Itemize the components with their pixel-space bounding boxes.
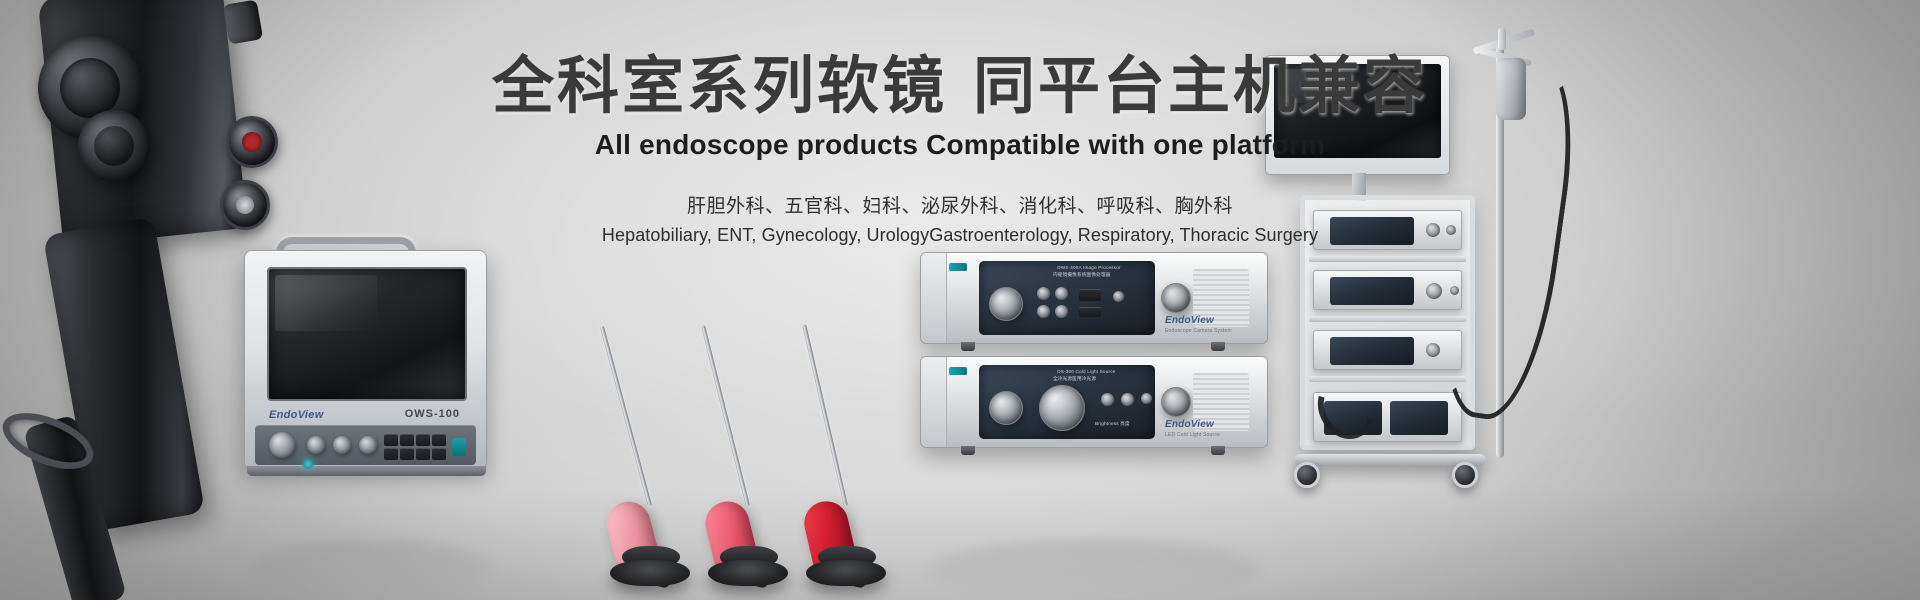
unit-power-indicator	[949, 263, 967, 271]
instrument-shaft	[802, 324, 848, 506]
panel-cn-text: 全冷光源医用冷光源	[1053, 376, 1096, 383]
workstation-knob-2	[307, 436, 325, 454]
cart-device-2-knob	[1426, 283, 1442, 299]
cart-device-3-panel	[1330, 337, 1414, 365]
cold-light-source-unit: OS-300 Cold Light Source 全冷光源医用冷光源 Brigh…	[920, 356, 1268, 448]
banner-text-block: 全科室系列软镜同平台主机兼容 All endoscope products Co…	[0, 52, 1920, 246]
processor-usb-port	[1079, 289, 1101, 301]
cart-device-2-panel	[1330, 277, 1414, 305]
workstation-main-knob	[269, 432, 295, 458]
processor-stack: OWS-400A Image Processor 内窥镜摄像系统图像处理器 En…	[920, 252, 1270, 462]
instrument-shaft	[600, 326, 652, 507]
processor-button-4	[1055, 305, 1068, 318]
processor-button-1	[1037, 287, 1050, 300]
light-source-knob-label: Brightness 亮度	[1095, 421, 1130, 428]
light-source-button-3	[1141, 393, 1152, 404]
pole-arm-3	[1498, 28, 1506, 50]
light-source-button-2	[1121, 393, 1134, 406]
processor-brand-label: EndoView	[1165, 315, 1214, 326]
unit-left-bezel	[921, 357, 947, 447]
rigid-endoscope-red	[788, 332, 908, 582]
panel-cn-text: 内窥镜摄像系统图像处理器	[1053, 272, 1111, 279]
light-source-button-1	[1101, 393, 1114, 406]
instrument-stand-base	[806, 560, 886, 586]
light-source-brightness-knob	[1039, 385, 1085, 431]
unit-foot-right	[1211, 342, 1225, 351]
unit-foot-left	[961, 446, 975, 455]
workstation-model-label: OWS-100	[405, 408, 460, 420]
workstation-knob-4	[359, 436, 377, 454]
light-source-brand-label: EndoView	[1165, 419, 1214, 430]
light-source-front-panel: OS-300 Cold Light Source 全冷光源医用冷光源 Brigh…	[979, 365, 1155, 439]
cart-shelf-1	[1309, 256, 1466, 262]
scope-side-housing	[223, 0, 263, 45]
instrument-shaft	[701, 325, 750, 506]
light-source-side-knob	[1161, 387, 1191, 417]
processor-front-panel: OWS-400A Image Processor 内窥镜摄像系统图像处理器	[979, 261, 1155, 335]
unit-power-indicator	[949, 367, 967, 375]
instrument-stand-base	[610, 560, 690, 586]
product-banner: EndoView OWS-100	[0, 0, 1920, 600]
cart-caster-left	[1294, 462, 1320, 488]
cart-device-2	[1313, 270, 1462, 310]
processor-main-knob	[989, 287, 1023, 321]
cart-device-3-knob	[1426, 343, 1440, 357]
workstation-knob-3	[333, 436, 351, 454]
workstation-power-button	[452, 438, 466, 456]
image-processor-unit: OWS-400A Image Processor 内窥镜摄像系统图像处理器 En…	[920, 252, 1268, 344]
workstation-display-screen	[267, 267, 467, 401]
headline: 全科室系列软镜同平台主机兼容	[0, 52, 1920, 121]
processor-indicator	[1113, 291, 1124, 302]
reflection-processors	[930, 540, 1260, 600]
workstation-status-lamp	[303, 459, 313, 469]
processor-sub-label: Endoscope Camera System	[1165, 328, 1232, 334]
processor-button-2	[1055, 287, 1068, 300]
reflection-workstation	[250, 540, 490, 600]
panel-model-text: OWS-400A Image Processor	[1057, 265, 1121, 272]
unit-left-bezel	[921, 253, 947, 343]
departments-english: Hepatobiliary, ENT, Gynecology, UrologyG…	[0, 225, 1920, 246]
workstation-brand-label: EndoView	[269, 409, 324, 421]
cart-device-3	[1313, 330, 1462, 370]
cart-caster-right	[1452, 462, 1478, 488]
workstation-body: EndoView OWS-100	[244, 250, 487, 468]
panel-model-text: OS-300 Cold Light Source	[1057, 369, 1115, 376]
cart-device-4-panel-right	[1390, 401, 1448, 435]
headline-part-2: 同平台主机兼容	[973, 52, 1428, 121]
workstation-base-foot	[247, 466, 486, 476]
portable-workstation-ows100: EndoView OWS-100	[238, 238, 493, 478]
headline-part-1: 全科室系列软镜	[492, 52, 947, 121]
departments-chinese: 肝胆外科、五官科、妇科、泌尿外科、消化科、呼吸科、胸外科	[0, 191, 1920, 218]
unit-foot-left	[961, 342, 975, 351]
processor-button-3	[1037, 305, 1050, 318]
light-source-sub-label: LED Cold Light Source	[1165, 432, 1220, 438]
light-source-aperture-knob	[989, 391, 1023, 425]
processor-side-knob	[1161, 283, 1191, 313]
unit-foot-right	[1211, 446, 1225, 455]
subheadline-english: All endoscope products Compatible with o…	[0, 129, 1920, 161]
workstation-button-grid	[384, 434, 446, 460]
instrument-stand-base	[708, 560, 788, 586]
workstation-control-panel	[255, 425, 476, 465]
processor-hdmi-port	[1079, 307, 1101, 317]
